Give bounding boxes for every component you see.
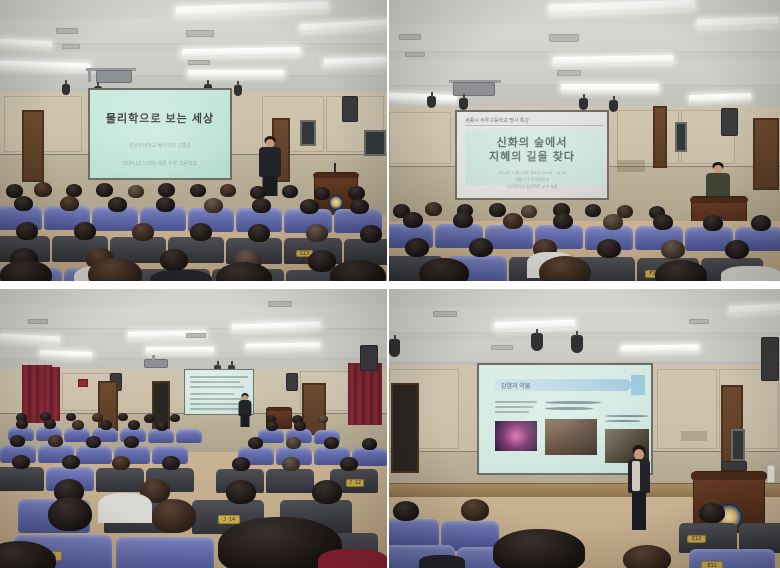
wall-speaker [360,345,378,371]
ceiling-vent [405,52,425,57]
slide-header-block [631,375,645,395]
photo-top-left: 물리학으로 보는 세상 성균관대학교 물리학과 김범준 2024.12.17(화… [0,0,387,281]
projection-screen: 세종시 두루고등학교 명사 특강 신화의 숲에서 지혜의 길을 찾다 2024년… [455,110,609,200]
slide-image-virus [495,421,537,451]
slide-title: 물리학으로 보는 세상 [90,110,230,126]
ceiling-vent [557,70,581,76]
ceiling-light [561,84,659,92]
side-door [391,383,419,473]
ceiling-vent [186,30,214,37]
control-window [300,120,316,146]
stage-spotlight [571,335,583,353]
ceiling-light [146,347,214,353]
stage-spotlight [389,339,400,357]
stage-spotlight [427,96,436,108]
ceiling-light [621,344,699,352]
side-door [22,110,44,182]
stage-spotlight [459,98,468,110]
slide-detail-line-1: 2024년 12월 18일 목요일 09:40 ~ 11:30 [457,170,607,176]
ceiling-light [246,342,320,349]
control-window [675,122,687,152]
slide-detail-line-2: 세종시 두루고등학교 [457,177,607,183]
projection-screen: 물리학으로 보는 세상 성균관대학교 물리학과 김범준 2024.12.17(화… [88,88,232,180]
control-window [364,130,386,156]
ceiling-vent [62,44,80,49]
slide-presenter-line: 성균관대학교 물리학과 김범준 [90,142,230,149]
side-door [653,106,667,168]
wall-speaker [721,108,738,136]
stage-spotlight [62,84,70,95]
wall-speaker [342,96,358,122]
ceiling-light [188,70,284,77]
slide-banner: 세종시 두루고등학교 명사 특강 [465,117,529,124]
projector-mount [88,68,91,82]
slide-title-line-2: 지혜의 길을 찾다 [457,148,607,164]
ceiling-vent [56,28,78,34]
ceiling-vent [491,345,513,350]
slide-image-lab [545,419,597,455]
slide-detail-line-3: 국민대학교 김윤학문 교수 초청 [457,184,607,190]
projector [144,359,168,368]
ceiling-vent [549,34,579,42]
ceiling-vent [268,301,292,307]
presenter [705,162,731,200]
seat-row: J 15 [0,511,387,568]
projector [96,70,132,83]
seat-row [389,252,780,281]
ceiling-vent [186,333,206,338]
control-window [731,429,745,461]
stage-spotlight [579,98,588,110]
ceiling-vent [28,319,48,324]
projector [453,82,495,96]
microphone-stand [334,163,336,173]
stage-spotlight [531,333,543,351]
ceiling-vent [433,311,457,317]
photo-collage: 물리학으로 보는 세상 성균관대학교 물리학과 김범준 2024.12.17(화… [0,0,780,568]
wall-speaker [286,373,298,391]
ceiling-vent [689,319,709,324]
photo-bottom-right: 감염과 약물 [389,289,780,568]
slide-date-line: 2024.12.17(화) 세종 두루 고등학교 [90,160,230,167]
photo-top-right: 세종시 두루고등학교 명사 특강 신화의 숲에서 지혜의 길을 찾다 2024년… [389,0,780,281]
side-door [753,118,779,190]
projector-mount [152,355,155,360]
wall-speaker [761,337,779,381]
ceiling-vent [399,34,421,40]
slide-header-text: 감염과 약물 [501,381,530,390]
podium-monitor [721,461,747,471]
photo-bottom-left: J 12 J 14 [0,289,387,568]
stage-spotlight [609,100,618,112]
water-bottle [767,465,775,483]
stage-spotlight [234,85,242,96]
ceiling-vent [188,60,210,65]
seat-number-plate: E11 [701,561,723,568]
seat-row: E11 [389,533,780,568]
seat-row [0,256,387,281]
